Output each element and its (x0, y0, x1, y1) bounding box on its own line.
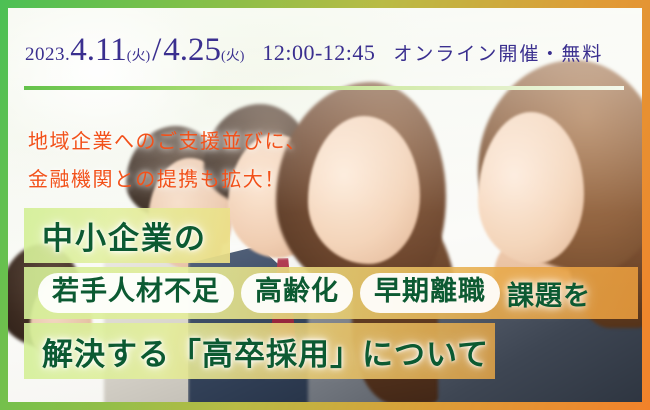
keyword-pill-3-label: 早期離職 (374, 276, 486, 307)
keyword-pill-2-label: 高齢化 (255, 276, 339, 307)
event-year: 2023. (25, 44, 70, 66)
event-format-note: オンライン開催・無料 (393, 39, 603, 66)
headline-band-1: 中小企業の (24, 208, 230, 263)
headline-line-3: 解決する「高卒採用」について (42, 329, 489, 374)
subhead-line-1: 地域企業へのご支援並びに、 (28, 125, 307, 154)
event-time: 12:00-12:45 (262, 40, 375, 66)
event-date-row: 2023. 4.11 (火) / 4.25 (火) 12:00-12:45 オン… (8, 32, 642, 76)
subhead-line-2: 金融機関との提携も拡大！ (28, 163, 286, 192)
headline-band-2: 若手人材不足 高齢化 早期離職 課題を (24, 267, 638, 319)
event-dayofweek-1: (火) (127, 45, 150, 65)
seminar-banner: 2023. 4.11 (火) / 4.25 (火) 12:00-12:45 オン… (0, 0, 650, 410)
event-date-separator: / (152, 32, 161, 69)
headline-line-2-tail: 課題を (507, 274, 591, 313)
event-dayofweek-2: (火) (221, 45, 244, 65)
keyword-pill-2: 高齢化 (241, 273, 353, 313)
keyword-pill-1: 若手人材不足 (38, 273, 234, 313)
event-date-2: 4.25 (163, 32, 221, 69)
banner-inner: 2023. 4.11 (火) / 4.25 (火) 12:00-12:45 オン… (8, 8, 642, 402)
headline-line-1: 中小企業の (42, 213, 207, 258)
date-row-underline (24, 86, 624, 90)
keyword-pill-3: 早期離職 (360, 273, 500, 313)
headline-band-3: 解決する「高卒採用」について (24, 323, 495, 379)
keyword-pill-1-label: 若手人材不足 (52, 276, 220, 307)
event-date-1: 4.11 (70, 32, 127, 69)
